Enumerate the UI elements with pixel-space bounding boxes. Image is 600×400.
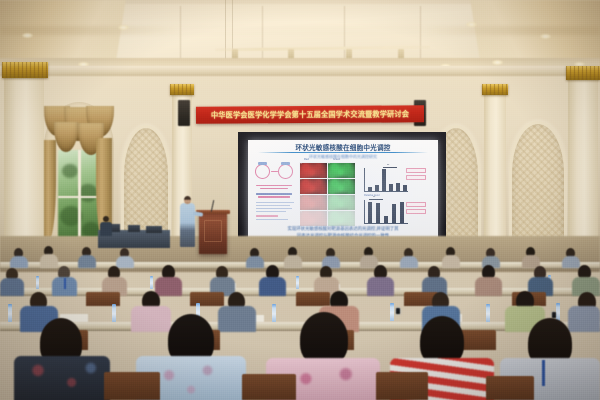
attendee-torso-foreground — [14, 356, 110, 400]
slide-title-rule — [258, 152, 428, 153]
banner-text: 中华医学会医学化学学会第十五届全国学术交流暨教学研讨会 — [211, 109, 409, 120]
downlight — [22, 33, 33, 38]
attendee-torso — [367, 277, 394, 296]
attendee-torso — [400, 256, 418, 268]
x-axis — [364, 223, 408, 224]
attendee-torso — [284, 255, 302, 268]
attendee-torso — [0, 278, 24, 296]
bar — [384, 216, 388, 223]
bar — [389, 184, 393, 191]
attendee-torso — [475, 277, 502, 296]
slide-title: 环状光敏感核酸在细胞中光调控 — [248, 142, 438, 152]
water-bottle — [112, 304, 116, 322]
conference-hall-photo: 中华医学会医学化学学会第十五届全国学术交流暨教学研讨会 环状光敏感核酸在细胞中光… — [0, 0, 600, 400]
molecular-structure-panel — [254, 162, 296, 224]
chart-legend-lower — [406, 202, 426, 207]
projection-screen: 环状光敏感核酸在细胞中光调控 环状光敏感核酸在细胞中的光调控研究 Red Gre… — [248, 140, 438, 246]
ceiling-light-band — [0, 26, 600, 35]
micrograph-label: e — [301, 195, 302, 197]
pilaster-right — [568, 80, 598, 256]
micrograph-label: g — [301, 211, 302, 213]
water-bottle — [390, 303, 394, 321]
bar — [368, 187, 372, 191]
strand-line — [256, 185, 292, 186]
arrow-connector — [271, 171, 278, 172]
attendee-torso — [131, 306, 171, 332]
lanyard — [542, 360, 545, 386]
slide-subtitle: 环状光敏感核酸在细胞中的光调控研究 — [248, 154, 438, 160]
bar — [392, 204, 396, 224]
monitor — [146, 226, 162, 233]
attendee-torso — [562, 256, 580, 268]
annotation-line — [256, 219, 288, 220]
micrograph-label: c — [301, 179, 302, 181]
ring-cap — [258, 162, 267, 165]
micrograph-label: h — [329, 211, 330, 213]
micrograph-cell: b — [328, 163, 355, 178]
x-axis — [364, 191, 408, 192]
duplex-bar — [258, 196, 290, 198]
foliage — [78, 184, 98, 202]
chair-back-foreground — [376, 372, 428, 400]
circular-nucleic-acid-ring — [278, 164, 293, 179]
water-bottle — [36, 276, 39, 289]
y-axis — [364, 168, 365, 192]
annotation-line — [256, 205, 290, 206]
microscopy-column-label: Red — [304, 158, 309, 161]
downlight — [118, 25, 129, 30]
ceiling-seam — [420, 6, 421, 64]
attendee-torso — [155, 277, 182, 296]
bar — [403, 185, 407, 192]
downlight — [466, 22, 477, 27]
micrograph-label: d — [329, 179, 330, 181]
gold-capital-right — [566, 66, 600, 80]
wall-cornice — [0, 66, 600, 76]
curtain-swag — [54, 122, 78, 152]
attendee-torso — [442, 255, 460, 268]
lanyard — [64, 278, 66, 289]
significance-bar — [383, 167, 397, 168]
pilaster-left — [4, 78, 44, 258]
annotation-bar — [256, 215, 278, 217]
smartphone — [552, 312, 556, 318]
downlight — [492, 60, 503, 65]
water-bottle — [296, 276, 299, 289]
laptop — [128, 225, 140, 232]
water-bottle — [486, 304, 490, 322]
bar-chart-lower: ** — [364, 200, 408, 224]
conference-banner: 中华医学会医学化学学会第十五届全国学术交流暨教学研讨会 — [196, 105, 424, 123]
chair-back-foreground — [104, 372, 160, 400]
ceiling-seam — [262, 6, 263, 64]
water-bottle — [150, 276, 153, 289]
significance-star: ** — [387, 163, 389, 167]
av-operator — [100, 222, 112, 236]
presenter-body — [180, 203, 195, 247]
micrograph-cell: e — [300, 195, 327, 210]
attendee-torso — [246, 256, 264, 268]
chart-legend-upper — [406, 168, 426, 173]
bar — [375, 185, 379, 191]
attendee-torso — [116, 256, 134, 268]
chair-back-foreground — [486, 376, 534, 400]
bar — [376, 203, 380, 223]
presenter-head — [184, 196, 191, 204]
duplex-bar — [256, 193, 292, 195]
strand-line — [260, 188, 288, 189]
chart-legend-upper-2 — [406, 175, 426, 180]
chart-caption: Relative level — [364, 194, 379, 197]
micrograph-cell: g — [300, 211, 327, 226]
ceiling-wire — [225, 0, 226, 66]
ceiling-seam — [344, 6, 345, 64]
loudspeaker-left — [178, 100, 190, 126]
annotation-line — [256, 202, 294, 203]
window-mullion — [78, 150, 81, 250]
significance-star: ** — [373, 195, 375, 199]
attendee-torso — [78, 255, 96, 268]
y-axis — [364, 200, 365, 224]
circular-nucleic-acid-ring — [255, 164, 270, 179]
annotation-line — [256, 211, 286, 212]
bar — [382, 169, 386, 191]
attendee-torso — [218, 306, 256, 332]
micrograph-label: b — [329, 163, 330, 165]
chair-back — [296, 292, 330, 306]
significance-bar — [369, 199, 383, 200]
downlight — [540, 34, 551, 39]
attendee-torso — [10, 256, 28, 268]
av-operator-head — [103, 216, 109, 222]
bar — [368, 202, 372, 223]
fluorescence-microscopy-grid: a b c d e f g h — [299, 162, 355, 226]
gold-capital-left — [2, 62, 48, 78]
annotation-line — [256, 208, 292, 209]
micrograph-label: f — [329, 195, 330, 197]
podium-front-panel — [204, 220, 222, 242]
attendee-torso — [259, 277, 286, 296]
micrograph-cell: a — [300, 163, 327, 178]
ceiling — [0, 0, 600, 72]
foliage — [62, 164, 78, 178]
pilaster — [484, 94, 506, 254]
micrograph-label: a — [301, 163, 302, 165]
bar — [396, 183, 400, 191]
micrograph-cell: h — [328, 211, 355, 226]
micrograph-cell: c — [300, 179, 327, 194]
gold-capital — [482, 84, 508, 95]
micrograph-cell: d — [328, 179, 355, 194]
bar — [400, 202, 404, 224]
attendee-torso — [40, 254, 58, 268]
chart-legend-lower-2 — [406, 209, 426, 214]
smartphone — [396, 308, 400, 314]
gold-capital — [170, 84, 194, 95]
ceiling-seam — [180, 6, 181, 64]
water-bottle — [272, 304, 276, 322]
ring-cap — [281, 162, 290, 165]
attendee-torso — [568, 306, 600, 332]
bar-chart-upper: ** — [364, 168, 408, 192]
water-bottle — [8, 304, 12, 322]
chair-back-foreground — [242, 374, 296, 400]
microscopy-column-label: Green — [333, 158, 340, 161]
micrograph-cell: f — [328, 195, 355, 210]
